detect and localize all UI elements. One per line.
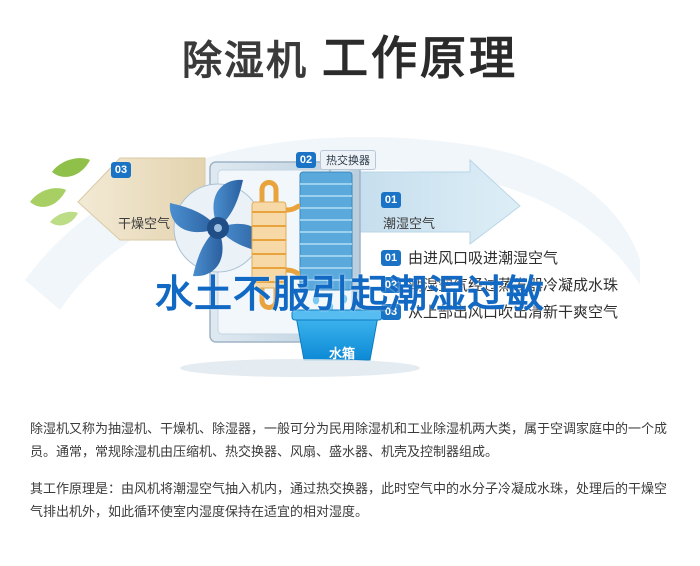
- dehumidifier-diagram: 03 02 01 热交换器 干燥空气 潮湿空气 水箱 01由进风口吸进潮湿空气 …: [0, 110, 700, 400]
- body-text: 除湿机又称为抽湿机、干燥机、除湿器，一般可分为民用除湿机和工业除湿机两大类，属于…: [30, 418, 675, 524]
- watermark-text: 水土不服引起潮湿过敏: [0, 263, 700, 318]
- badge-03-diagram: 03: [111, 162, 131, 178]
- humid-air-label: 潮湿空气: [383, 213, 435, 232]
- leaf-icon: [30, 158, 90, 225]
- title-part-1: 除湿机: [182, 38, 308, 84]
- paragraph-2: 其工作原理是：由风机将潮湿空气抽入机内，通过热交换器，此时空气中的水分子冷凝成水…: [30, 478, 675, 524]
- heat-exchanger-chip: 热交换器: [320, 150, 376, 170]
- badge-01-diagram: 01: [381, 192, 401, 208]
- badge-02-diagram: 02: [296, 152, 316, 168]
- page-root: 除湿机工作原理: [0, 0, 700, 566]
- paragraph-1: 除湿机又称为抽湿机、干燥机、除湿器，一般可分为民用除湿机和工业除湿机两大类，属于…: [30, 418, 675, 464]
- page-title: 除湿机工作原理: [0, 22, 700, 88]
- title-part-2: 工作原理: [322, 31, 518, 85]
- water-tank-label: 水箱: [329, 343, 355, 362]
- dry-air-label: 干燥空气: [118, 213, 170, 232]
